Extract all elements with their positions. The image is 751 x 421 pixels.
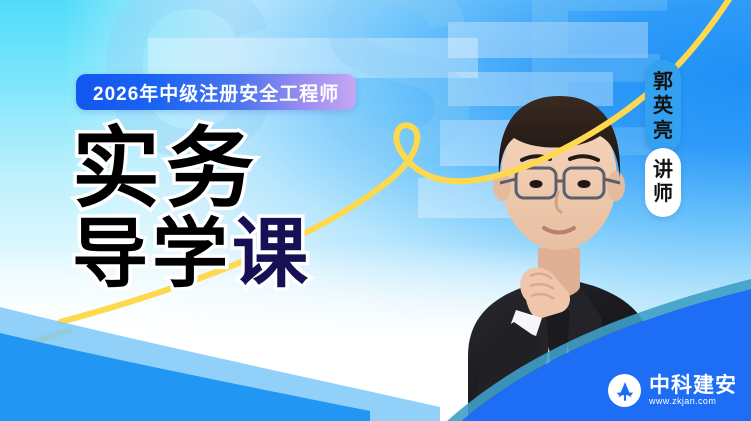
instructor-name-char: 亮: [653, 118, 673, 142]
title-line-2-black: 导学: [72, 209, 232, 298]
course-category-label: 2026年中级注册安全工程师: [93, 79, 339, 106]
title-line-2: 导学课: [72, 216, 312, 292]
instructor-role-badge: 讲 师: [645, 148, 681, 217]
course-poster: CSE: [0, 0, 751, 421]
brand-text-block: 中科建安 www.zkjan.com: [649, 375, 737, 406]
title-line-2-navy: 课: [232, 209, 312, 298]
instructor-name-char: 英: [653, 93, 673, 117]
course-category-badge[interactable]: 2026年中级注册安全工程师: [76, 74, 356, 110]
instructor-role-char: 师: [653, 181, 673, 205]
instructor-name-char: 郭: [653, 69, 673, 93]
instructor-role-char: 讲: [653, 157, 673, 181]
title-line-1: 实务: [72, 126, 312, 212]
brand-url: www.zkjan.com: [649, 397, 737, 406]
brand-logo[interactable]: 中科建安 www.zkjan.com: [608, 374, 737, 407]
page-title: 实务 导学课: [72, 126, 312, 292]
zkjan-logo-icon: [608, 374, 641, 407]
instructor-name-badge: 郭 英 亮: [645, 60, 681, 153]
brand-name: 中科建安: [649, 375, 737, 396]
